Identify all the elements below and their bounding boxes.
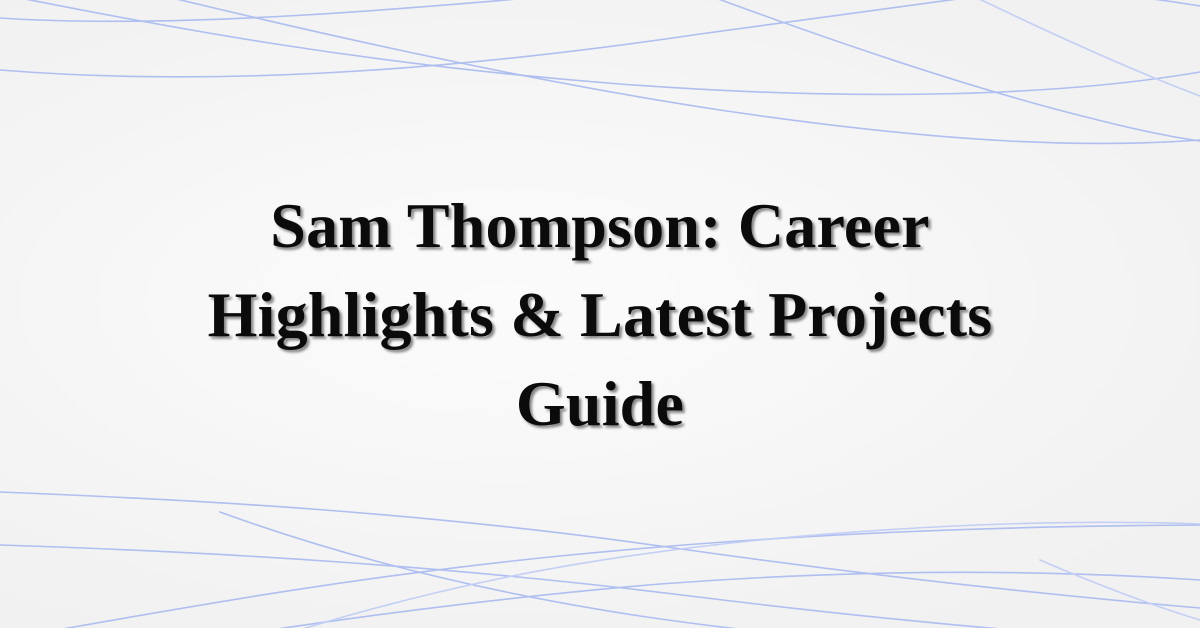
banner-card: Sam Thompson: Career Highlights & Latest… [0,0,1200,628]
page-title: Sam Thompson: Career Highlights & Latest… [120,181,1080,448]
title-container: Sam Thompson: Career Highlights & Latest… [0,0,1200,628]
